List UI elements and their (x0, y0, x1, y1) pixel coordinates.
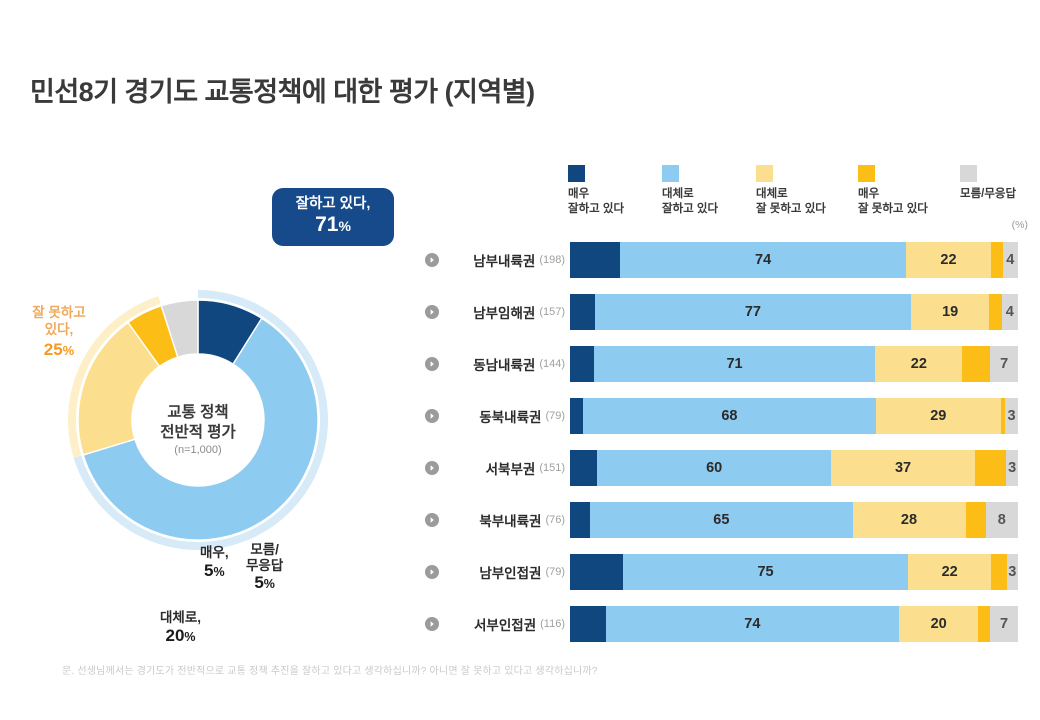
table-row: 남부임해권(157)77194 (425, 294, 1020, 330)
bar-segment-somewhat-bad: 22 (906, 242, 991, 278)
bar-segment-no-answer: 3 (1006, 450, 1018, 486)
bar-segment-somewhat-good: 77 (595, 294, 911, 330)
table-row: 서부인접권(116)74207 (425, 606, 1020, 642)
row-sample-size: (157) (539, 306, 565, 318)
bar-segment-somewhat-bad: 29 (876, 398, 1001, 434)
bar-segment-very-good (570, 554, 623, 590)
bar-segment-very-good (570, 398, 583, 434)
row-label-서북부권: 서북부권(151) (425, 450, 565, 486)
bar-segment-very-bad (991, 242, 1003, 278)
bar-segment-very-bad (991, 554, 1006, 590)
stacked-bar: 68293 (570, 398, 1018, 434)
bar-segment-very-good (570, 502, 590, 538)
row-region-name: 서북부권 (486, 458, 536, 478)
row-label-남부내륙권: 남부내륙권(198) (425, 242, 565, 278)
bar-segment-somewhat-good: 74 (606, 606, 899, 642)
stacked-bar: 75223 (570, 554, 1018, 590)
bar-segment-somewhat-good: 71 (594, 346, 875, 382)
bar-segment-very-good (570, 346, 594, 382)
row-sample-size: (79) (545, 566, 565, 578)
row-sample-size: (76) (545, 514, 565, 526)
chevron-right-icon (425, 617, 439, 631)
bar-segment-very-good (570, 242, 620, 278)
chevron-right-icon (425, 305, 439, 319)
chevron-right-icon (425, 357, 439, 371)
row-sample-size: (79) (545, 410, 565, 422)
bar-chart: 남부내륙권(198)74224남부임해권(157)77194동남내륙권(144)… (0, 0, 1040, 720)
bar-segment-very-good (570, 450, 597, 486)
stacked-bar: 74207 (570, 606, 1018, 642)
bar-segment-somewhat-bad: 19 (911, 294, 989, 330)
stacked-bar: 77194 (570, 294, 1018, 330)
row-region-name: 남부내륙권 (473, 250, 535, 270)
bar-segment-somewhat-bad: 20 (899, 606, 978, 642)
chevron-right-icon (425, 513, 439, 527)
bar-segment-very-bad (975, 450, 1006, 486)
bar-segment-somewhat-good: 60 (597, 450, 831, 486)
chevron-right-icon (425, 565, 439, 579)
bar-segment-no-answer: 3 (1007, 554, 1018, 590)
footnote-question: 문. 선생님께서는 경기도가 전반적으로 교통 정책 추진을 잘하고 있다고 생… (62, 662, 598, 677)
stacked-bar: 74224 (570, 242, 1018, 278)
row-region-name: 남부임해권 (473, 302, 535, 322)
stacked-bar: 71227 (570, 346, 1018, 382)
bar-segment-somewhat-good: 68 (583, 398, 876, 434)
row-region-name: 동북내륙권 (479, 406, 541, 426)
row-region-name: 서부인접권 (474, 614, 536, 634)
row-sample-size: (151) (539, 462, 565, 474)
table-row: 동남내륙권(144)71227 (425, 346, 1020, 382)
bar-segment-no-answer: 7 (990, 346, 1018, 382)
bar-segment-somewhat-bad: 22 (908, 554, 992, 590)
row-region-name: 북부내륙권 (479, 510, 541, 530)
row-region-name: 동남내륙권 (473, 354, 535, 374)
bar-segment-somewhat-bad: 22 (875, 346, 962, 382)
infographic-root: 민선8기 경기도 교통정책에 대한 평가 (지역별) 교통 정책 전반적 평가 … (0, 0, 1040, 720)
row-region-name: 남부인접권 (479, 562, 541, 582)
stacked-bar: 65288 (570, 502, 1018, 538)
bar-segment-no-answer: 4 (1002, 294, 1018, 330)
bar-segment-no-answer: 4 (1003, 242, 1018, 278)
bar-segment-very-good (570, 294, 595, 330)
row-sample-size: (144) (539, 358, 565, 370)
stacked-bar: 60373 (570, 450, 1018, 486)
row-label-동남내륙권: 동남내륙권(144) (425, 346, 565, 382)
table-row: 남부인접권(79)75223 (425, 554, 1020, 590)
chevron-right-icon (425, 409, 439, 423)
bar-segment-somewhat-good: 74 (620, 242, 906, 278)
row-label-남부임해권: 남부임해권(157) (425, 294, 565, 330)
bar-segment-somewhat-good: 75 (623, 554, 908, 590)
bar-segment-very-bad (966, 502, 986, 538)
row-label-서부인접권: 서부인접권(116) (425, 606, 565, 642)
row-label-동북내륙권: 동북내륙권(79) (425, 398, 565, 434)
bar-segment-no-answer: 3 (1005, 398, 1018, 434)
bar-segment-no-answer: 8 (986, 502, 1018, 538)
row-sample-size: (198) (539, 254, 565, 266)
chevron-right-icon (425, 253, 439, 267)
bar-segment-very-bad (962, 346, 990, 382)
table-row: 북부내륙권(76)65288 (425, 502, 1020, 538)
chevron-right-icon (425, 461, 439, 475)
row-label-남부인접권: 남부인접권(79) (425, 554, 565, 590)
bar-segment-very-good (570, 606, 606, 642)
bar-segment-very-bad (978, 606, 990, 642)
bar-segment-very-bad (989, 294, 1001, 330)
table-row: 동북내륙권(79)68293 (425, 398, 1020, 434)
bar-segment-somewhat-bad: 28 (853, 502, 966, 538)
table-row: 남부내륙권(198)74224 (425, 242, 1020, 278)
row-label-북부내륙권: 북부내륙권(76) (425, 502, 565, 538)
bar-segment-somewhat-bad: 37 (831, 450, 975, 486)
row-sample-size: (116) (540, 618, 565, 630)
table-row: 서북부권(151)60373 (425, 450, 1020, 486)
bar-segment-somewhat-good: 65 (590, 502, 852, 538)
bar-segment-no-answer: 7 (990, 606, 1018, 642)
